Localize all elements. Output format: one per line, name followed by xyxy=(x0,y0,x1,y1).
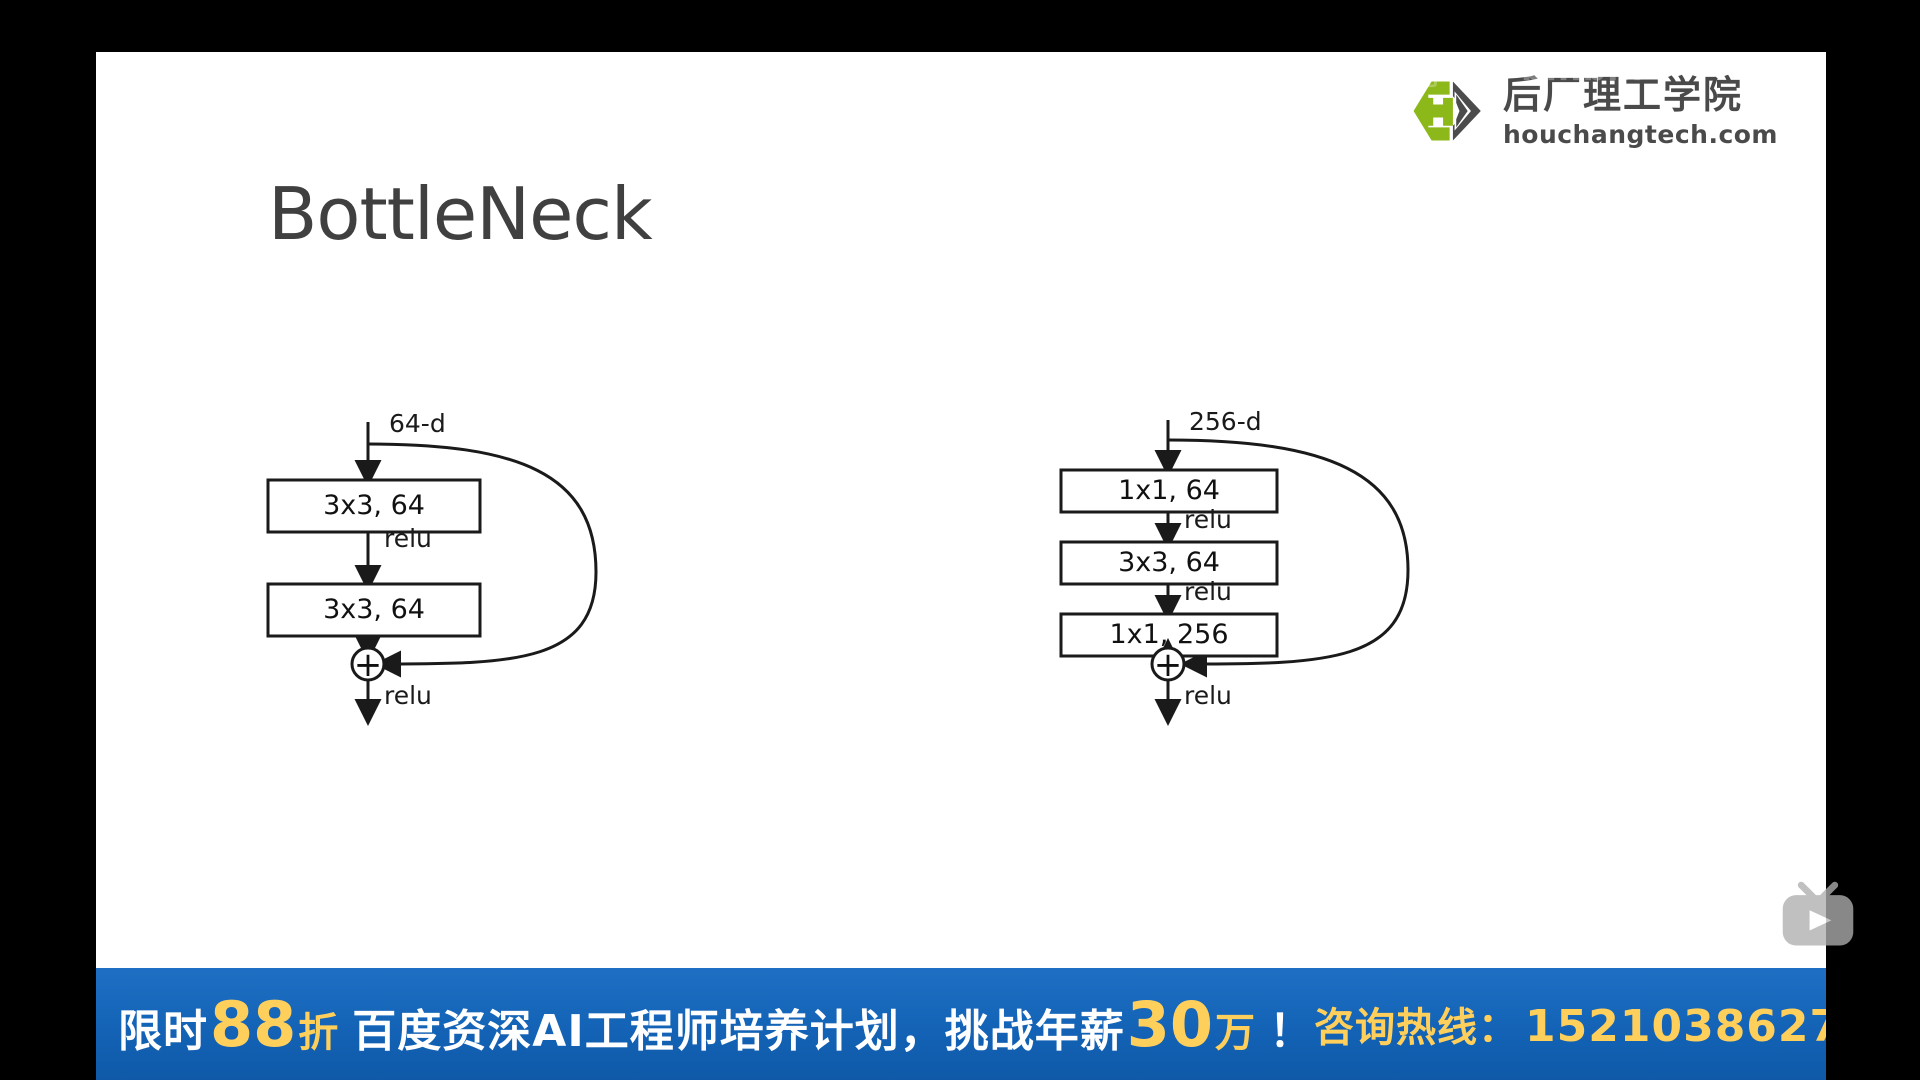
basic-relu-label-1: relu xyxy=(384,524,432,553)
promo-headline: 限时 88 折 百度资深AI工程师培养计划，挑战年薪 30 万 ！ xyxy=(96,988,1314,1061)
video-player-frame: 后厂理工学院 houchangtech.com BottleNeck xyxy=(0,0,1920,1080)
promo-exclaim: ！ xyxy=(1269,995,1314,1059)
basic-output-relu-label: relu xyxy=(384,681,432,710)
bottleneck-add-symbol: + xyxy=(1154,645,1183,685)
diagram-svg: 64-d 3x3, 64 relu 3x3, 64 xyxy=(96,332,1826,732)
promo-salary-unit: 万 xyxy=(1215,1000,1255,1058)
bottleneck-block-group: 256-d 1x1, 64 relu 3x3, 64 relu xyxy=(1061,407,1408,714)
promo-discount: 88 xyxy=(210,988,296,1061)
bottleneck-layer-label-1: 1x1, 64 xyxy=(1118,475,1220,506)
brand-name: 后厂理工学院 xyxy=(1503,76,1778,114)
basic-input-label: 64-d xyxy=(389,409,446,438)
promo-prefix: 限时 xyxy=(118,995,208,1059)
bottleneck-relu-label-1: relu xyxy=(1184,505,1232,534)
basic-layer-label-2: 3x3, 64 xyxy=(323,594,425,625)
page-title: BottleNeck xyxy=(268,172,652,256)
promo-hotline-label: 咨询热线： xyxy=(1314,995,1519,1053)
bottleneck-input-label: 256-d xyxy=(1189,407,1262,436)
promo-hotline[interactable]: 咨询热线： 15210386272 xyxy=(1314,995,1826,1053)
slide-canvas: 后厂理工学院 houchangtech.com BottleNeck xyxy=(96,52,1826,968)
bottleneck-output-relu-label: relu xyxy=(1184,681,1232,710)
houchangtech-logo-icon xyxy=(1407,70,1489,152)
brand-logo: 后厂理工学院 houchangtech.com xyxy=(1407,70,1778,152)
bottleneck-layer-label-2: 3x3, 64 xyxy=(1118,547,1220,578)
bottleneck-relu-label-2: relu xyxy=(1184,577,1232,606)
basic-block-group: 64-d 3x3, 64 relu 3x3, 64 xyxy=(268,409,596,714)
promo-headline-text: 百度资深AI工程师培养计划，挑战年薪 xyxy=(352,995,1124,1059)
bilibili-tv-icon xyxy=(1776,880,1860,954)
basic-add-symbol: + xyxy=(354,645,383,685)
basic-layer-label-1: 3x3, 64 xyxy=(323,490,425,521)
brand-url: houchangtech.com xyxy=(1503,122,1778,147)
promo-salary: 30 xyxy=(1127,988,1213,1061)
promo-banner[interactable]: 限时 88 折 百度资深AI工程师培养计划，挑战年薪 30 万 ！ 咨询热线： … xyxy=(96,968,1826,1080)
promo-discount-unit: 折 xyxy=(298,1000,338,1058)
promo-hotline-number: 15210386272 xyxy=(1525,1001,1826,1052)
resnet-block-diagram: 64-d 3x3, 64 relu 3x3, 64 xyxy=(96,332,1826,732)
